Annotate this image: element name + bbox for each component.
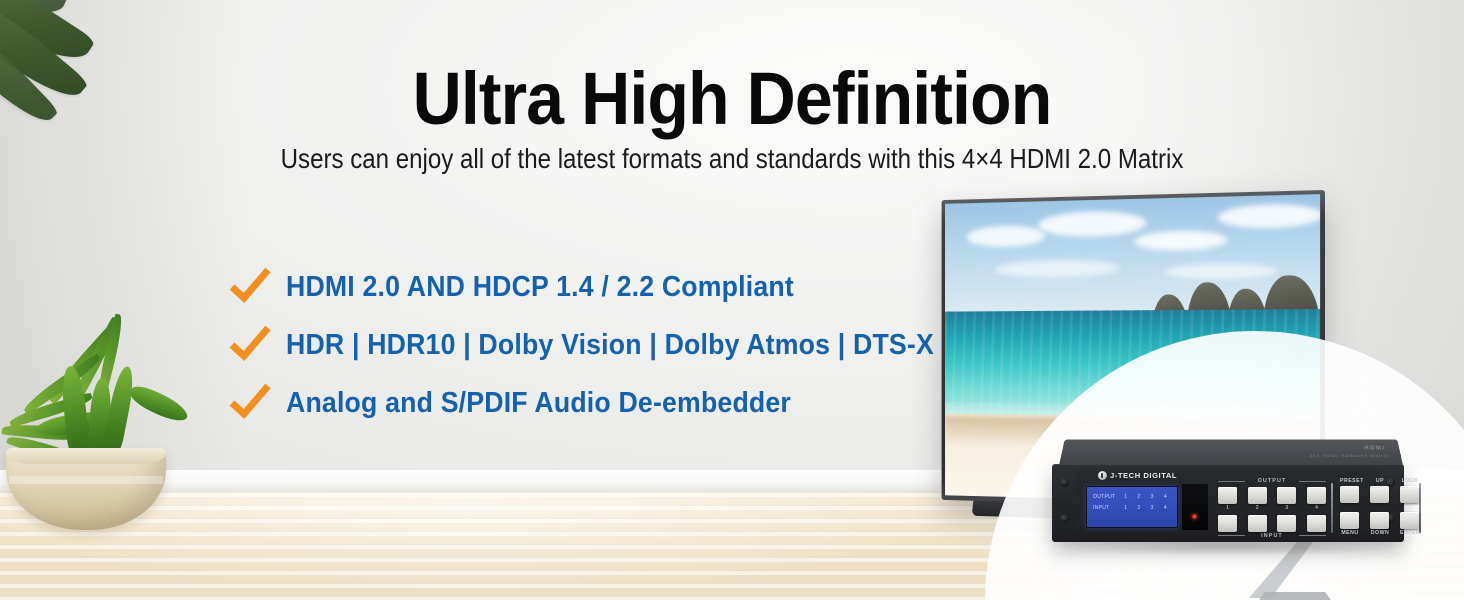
device-model-text: 4x4 HDMI HDBaseT Matrix xyxy=(1310,454,1390,458)
lcd-row-input: INPUT 1 2 3 4 xyxy=(1093,505,1172,511)
lock-label: LOCK xyxy=(1400,478,1420,484)
channel-number: 1 xyxy=(1218,505,1237,511)
potted-plant xyxy=(6,352,196,512)
feature-item: Analog and S/PDIF Audio De-embedder xyxy=(228,374,928,432)
feature-label: HDR | HDR10 | Dolby Vision | Dolby Atmos… xyxy=(286,329,934,362)
input-button-1[interactable] xyxy=(1218,515,1237,532)
lcd-output-label: OUTPUT xyxy=(1093,494,1119,500)
lcd-value: 4 xyxy=(1164,505,1167,511)
output-button-row xyxy=(1218,487,1326,504)
screw-hole xyxy=(1060,478,1069,487)
up-button[interactable] xyxy=(1370,486,1389,503)
lcd-output-values: 1 2 3 4 xyxy=(1119,494,1172,500)
lcd-value: 4 xyxy=(1164,494,1167,500)
divider-left xyxy=(1331,483,1333,533)
rule xyxy=(1218,481,1245,482)
page-title: Ultra High Definition xyxy=(59,62,1406,136)
control-column-lock-enter: LOCK ENTER xyxy=(1400,478,1420,536)
control-column-up-down: UP DOWN xyxy=(1370,478,1390,536)
product-banner: HDMI 4x4 HDMI HDBaseT Matrix J-TECH DIGI… xyxy=(0,0,1464,600)
feature-list: HDMI 2.0 AND HDCP 1.4 / 2.2 Compliant HD… xyxy=(228,258,928,432)
output-button-4[interactable] xyxy=(1307,487,1326,504)
input-button-4[interactable] xyxy=(1307,515,1326,532)
enter-button[interactable] xyxy=(1400,512,1419,529)
output-button-2[interactable] xyxy=(1248,487,1267,504)
rack-ear-left xyxy=(1054,466,1076,540)
menu-button[interactable] xyxy=(1340,512,1359,529)
feature-label: HDMI 2.0 AND HDCP 1.4 / 2.2 Compliant xyxy=(286,271,794,304)
matrix-button-block: OUTPUT 1 2 3 4 xyxy=(1218,478,1326,538)
check-icon xyxy=(228,383,272,423)
hdmi-logo-icon: HDMI xyxy=(1364,446,1386,451)
lcd-value: 2 xyxy=(1137,494,1140,500)
channel-number: 3 xyxy=(1277,505,1296,511)
channel-number: 4 xyxy=(1307,505,1326,511)
rule xyxy=(1299,481,1326,482)
pot-rim xyxy=(6,448,166,464)
preset-label: PRESET xyxy=(1340,478,1360,484)
channel-number: 2 xyxy=(1248,505,1267,511)
brand-name: J-TECH DIGITAL xyxy=(1110,471,1177,480)
check-icon xyxy=(228,325,272,365)
control-button-block: PRESET MENU UP DOWN LOCK xyxy=(1340,478,1422,538)
enter-label: ENTER xyxy=(1400,530,1420,536)
hdmi-matrix-switcher: HDMI 4x4 HDMI HDBaseT Matrix J-TECH DIGI… xyxy=(1052,434,1404,544)
check-icon xyxy=(228,267,272,307)
succulent-stem xyxy=(127,381,191,426)
input-button-3[interactable] xyxy=(1277,515,1296,532)
ir-receiver-window xyxy=(1182,484,1208,530)
lcd-display: OUTPUT 1 2 3 4 INPUT 1 2 3 4 xyxy=(1086,486,1178,528)
jtd-logo-icon xyxy=(1098,471,1107,480)
lcd-value: 3 xyxy=(1151,505,1154,511)
lcd-input-values: 1 2 3 4 xyxy=(1119,505,1172,511)
lock-button[interactable] xyxy=(1400,486,1419,503)
preset-button[interactable] xyxy=(1340,486,1359,503)
input-group-label: INPUT xyxy=(1218,533,1326,539)
lcd-value: 3 xyxy=(1151,494,1154,500)
pot-band xyxy=(9,476,163,484)
feature-item: HDMI 2.0 AND HDCP 1.4 / 2.2 Compliant xyxy=(228,258,928,316)
power-led-icon xyxy=(1192,514,1197,519)
output-button-1[interactable] xyxy=(1218,487,1237,504)
output-button-3[interactable] xyxy=(1277,487,1296,504)
menu-label: MENU xyxy=(1340,530,1360,536)
input-button-2[interactable] xyxy=(1248,515,1267,532)
down-label: DOWN xyxy=(1370,530,1390,536)
input-button-row xyxy=(1218,515,1326,532)
feature-item: HDR | HDR10 | Dolby Vision | Dolby Atmos… xyxy=(228,316,928,374)
channel-number-row: 1 2 3 4 xyxy=(1218,505,1326,511)
feature-label: Analog and S/PDIF Audio De-embedder xyxy=(286,387,791,420)
lcd-value: 2 xyxy=(1137,505,1140,511)
control-column-preset-menu: PRESET MENU xyxy=(1340,478,1360,536)
lcd-row-output: OUTPUT 1 2 3 4 xyxy=(1093,494,1172,500)
screw-hole xyxy=(1060,514,1069,523)
up-label: UP xyxy=(1370,478,1390,484)
lcd-value: 1 xyxy=(1124,505,1127,511)
brand-logo: J-TECH DIGITAL xyxy=(1098,471,1177,480)
device-front-panel: J-TECH DIGITAL OUTPUT 1 2 3 4 INPUT 1 xyxy=(1052,464,1404,542)
lcd-value: 1 xyxy=(1124,494,1127,500)
lcd-input-label: INPUT xyxy=(1093,505,1119,511)
subtitle: Users can enjoy all of the latest format… xyxy=(102,142,1361,176)
down-button[interactable] xyxy=(1370,512,1389,529)
